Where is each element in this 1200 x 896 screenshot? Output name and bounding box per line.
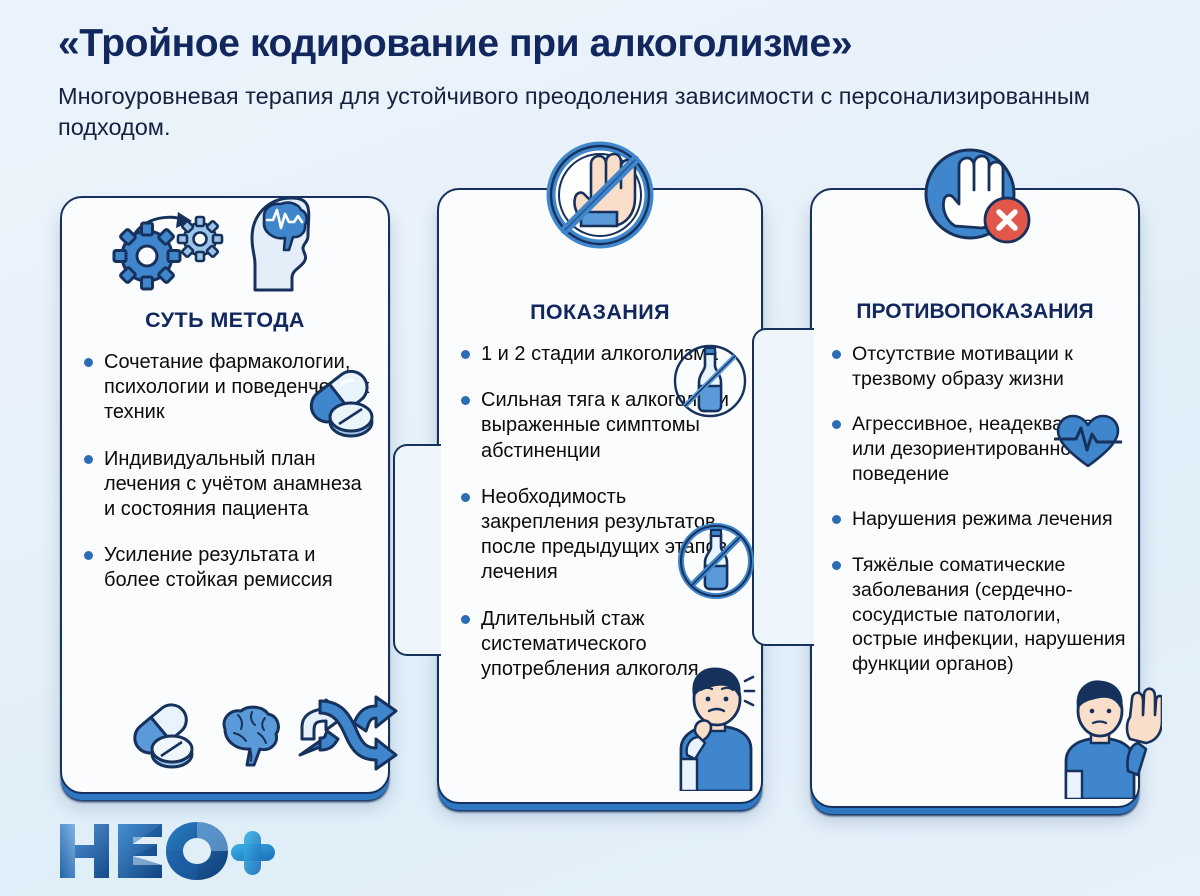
list-item: Необходимость закрепления результатов по… — [459, 485, 747, 586]
connector-tab-left-contraindications — [752, 328, 814, 646]
hand-stop-red-cross-icon — [812, 144, 1138, 254]
card-title-contraindications: ПРОТИВОПОКАЗАНИЯ — [812, 300, 1138, 324]
list-item: Сильная тяга к алкоголю и выраженные сим… — [459, 388, 747, 464]
no-hand-stop-icon — [439, 136, 761, 254]
connector-tab-left-indications — [393, 444, 441, 656]
page-header: «Тройное кодирование при алкоголизме» Мн… — [0, 0, 1200, 144]
capsule-tablet-icon — [122, 699, 204, 778]
raised-hand-man-icon — [1046, 677, 1162, 804]
card-title-indications: ПОКАЗАНИЯ — [439, 300, 761, 325]
bullet-list-essence: Сочетание фармакологии, психологии и пов… — [82, 350, 374, 594]
brain-icon — [208, 699, 290, 778]
essence-bottom-icons — [122, 693, 404, 778]
list-item: Усиление результата и более стойкая реми… — [82, 543, 374, 593]
list-item: Агрессивное, неадекватное или дезориенти… — [830, 412, 1128, 486]
bullet-list-indications: 1 и 2 стадии алкоголизма Сильная тяга к … — [459, 342, 747, 682]
page-title: «Тройное кодирование при алкоголизме» — [58, 22, 1200, 66]
page-subtitle: Многоуровневая терапия для устойчивого п… — [58, 81, 1158, 144]
card-contraindications[interactable]: ПРОТИВОПОКАЗАНИЯ Отсутствие мотивации к … — [810, 188, 1140, 808]
card-indications[interactable]: ПОКАЗАНИЯ 1 и 2 стадии алкоголизма Сильн… — [437, 188, 763, 804]
list-item: Длительный стаж систематического употреб… — [459, 607, 747, 683]
list-item: Тяжёлые соматические заболевания (сердеч… — [830, 553, 1128, 676]
list-item: Сочетание фармакологии, психологии и пов… — [82, 350, 374, 426]
cards-row: СУТЬ МЕТОДА Сочетание фармакологии, псих… — [0, 188, 1200, 828]
list-item: Отсутствие мотивации к трезвому образу ж… — [830, 342, 1128, 391]
list-item: 1 и 2 стадии алкоголизма — [459, 342, 747, 367]
list-item: Индивидуальный план лечения с учётом ана… — [82, 447, 374, 523]
shuffle-arrows-icon — [294, 693, 404, 778]
neo-plus-logo[interactable] — [58, 820, 276, 882]
card-title-essence: СУТЬ МЕТОДА — [62, 308, 388, 333]
card-essence[interactable]: СУТЬ МЕТОДА Сочетание фармакологии, псих… — [60, 196, 390, 794]
gears-brain-head-icon — [62, 194, 388, 298]
bullet-list-contraindications: Отсутствие мотивации к трезвому образу ж… — [830, 342, 1128, 677]
list-item: Нарушения режима лечения — [830, 507, 1128, 532]
worried-man-icon — [657, 663, 763, 796]
